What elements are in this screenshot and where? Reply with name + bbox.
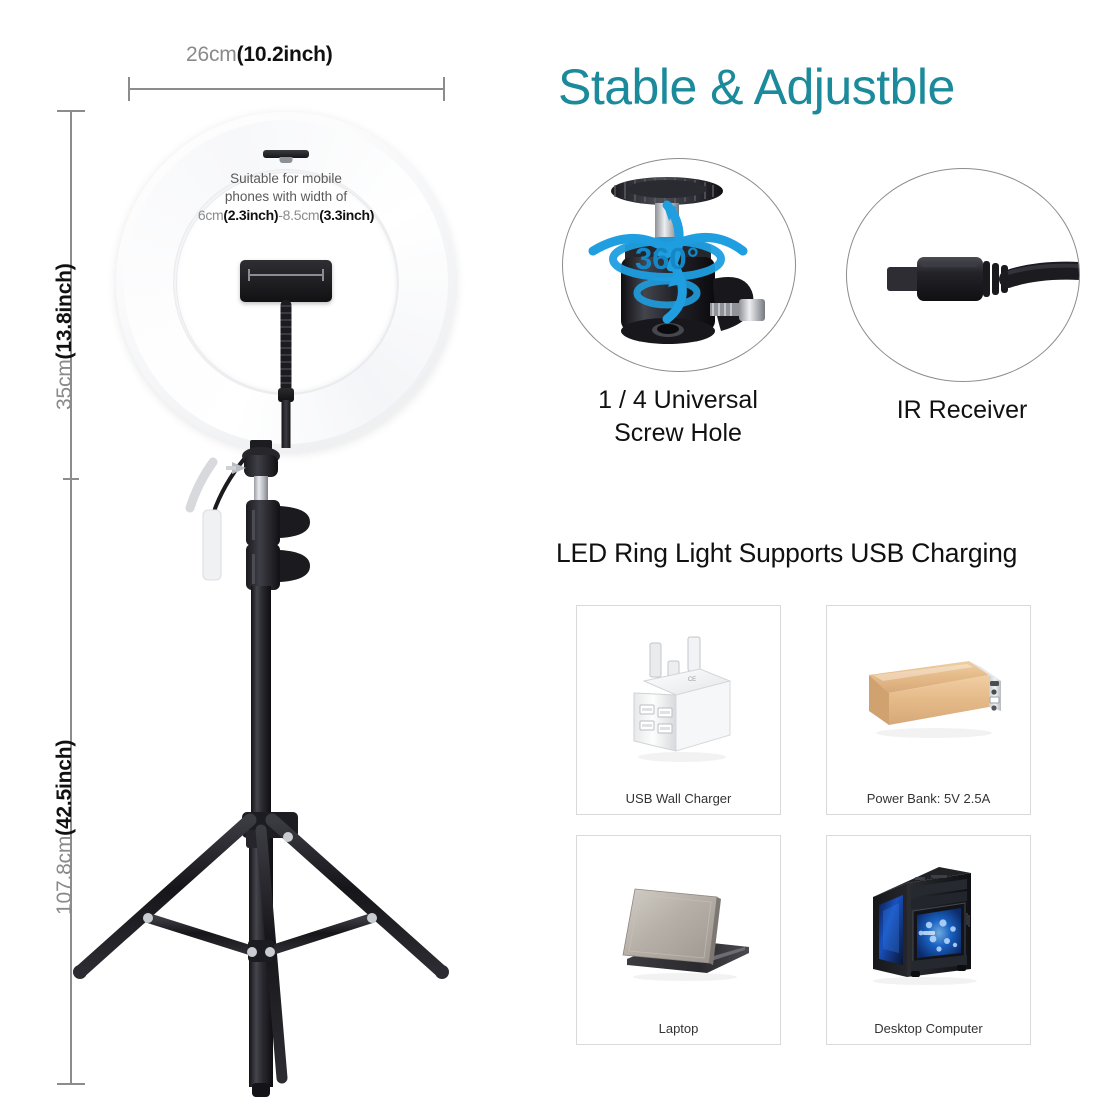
ir-receiver-cable-icon bbox=[847, 169, 1079, 381]
rivet bbox=[143, 913, 153, 923]
pole-foot-cap bbox=[252, 1083, 270, 1097]
card-art bbox=[577, 844, 780, 1012]
power-bank-icon bbox=[849, 623, 1009, 773]
rivet bbox=[367, 913, 377, 923]
svg-text:CE: CE bbox=[687, 677, 695, 683]
laptop-icon bbox=[599, 863, 759, 993]
feature-screw-hole-caption-line1: 1 / 4 Universal bbox=[562, 384, 794, 417]
ball-head-icon: 360° bbox=[563, 159, 795, 371]
card-usb-wall-charger: CE bbox=[576, 605, 781, 815]
rivet bbox=[283, 832, 293, 842]
brace-right bbox=[266, 918, 372, 952]
desktop-computer-icon bbox=[849, 853, 1009, 1003]
card-laptop: Laptop bbox=[576, 835, 781, 1045]
charging-section-heading: LED Ring Light Supports USB Charging bbox=[556, 538, 1017, 569]
product-infographic: 26cm(10.2inch) 35cm(13.8inch) 107.8cm(42… bbox=[0, 0, 1100, 1100]
feature-ir-receiver-caption: IR Receiver bbox=[846, 394, 1078, 427]
page-title: Stable & Adjustble bbox=[558, 58, 955, 116]
card-caption: Power Bank: 5V 2.5A bbox=[867, 791, 991, 806]
feature-screw-hole-caption: 1 / 4 Universal Screw Hole bbox=[562, 384, 794, 450]
card-caption: Laptop bbox=[659, 1021, 699, 1036]
charging-options-grid: CE bbox=[576, 605, 1036, 1045]
feature-ir-receiver: IR Receiver bbox=[846, 168, 1078, 427]
card-art bbox=[827, 614, 1030, 782]
card-art: CE bbox=[577, 614, 780, 782]
tripod-foot-left bbox=[73, 965, 87, 979]
height-adjust-knobs bbox=[246, 500, 310, 590]
card-power-bank: Power Bank: 5V 2.5A bbox=[826, 605, 1031, 815]
feature-screw-hole-image: 360° bbox=[562, 158, 796, 372]
usb-wall-charger-icon: CE bbox=[604, 623, 754, 773]
rivet bbox=[265, 947, 275, 957]
card-caption: Desktop Computer bbox=[874, 1021, 982, 1036]
power-cable bbox=[190, 452, 250, 580]
card-art bbox=[827, 844, 1030, 1012]
feature-ir-receiver-image bbox=[846, 168, 1080, 382]
feature-screw-hole: 360° 1 / 4 Universal Screw Hole bbox=[562, 158, 794, 450]
tripod-foot-right bbox=[435, 965, 449, 979]
feature-ir-receiver-caption-line1: IR Receiver bbox=[846, 394, 1078, 427]
ball-head-assembly bbox=[226, 440, 280, 502]
card-desktop-computer: Desktop Computer bbox=[826, 835, 1031, 1045]
feature-screw-hole-caption-line2: Screw Hole bbox=[562, 417, 794, 450]
tripod-stand bbox=[0, 0, 520, 1100]
tripod-leg-left bbox=[80, 820, 250, 972]
center-pole-upper bbox=[251, 586, 271, 836]
brace-left bbox=[148, 918, 256, 952]
card-caption: USB Wall Charger bbox=[626, 791, 732, 806]
rotation-badge-label: 360° bbox=[635, 241, 699, 276]
tripod-leg-right bbox=[272, 820, 442, 972]
rivet bbox=[247, 947, 257, 957]
